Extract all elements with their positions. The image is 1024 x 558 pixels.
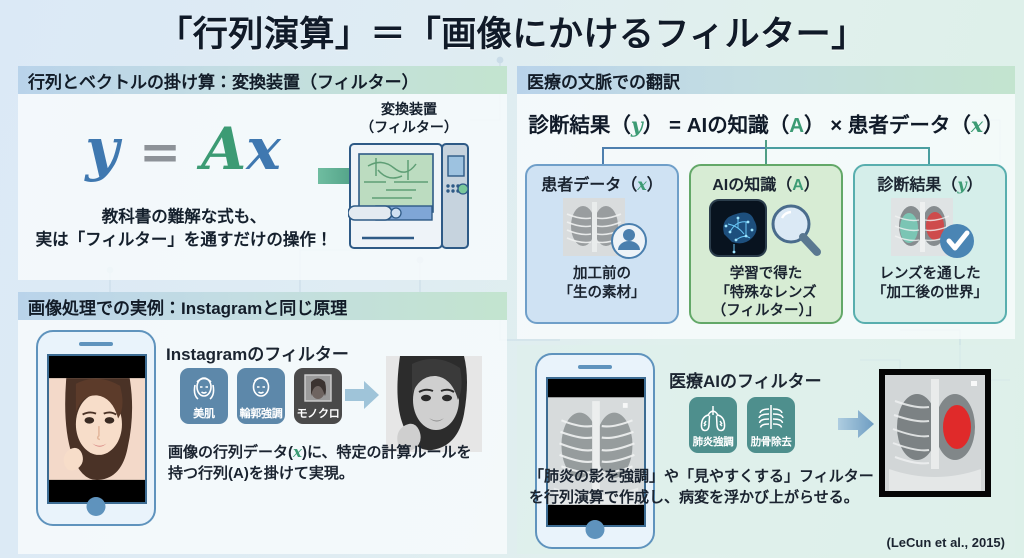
ribcage-icon [755, 402, 787, 432]
panel-instagram-header: 画像処理での実例：Instagramと同じ原理 [18, 292, 507, 320]
caption-line-1: 教科書の難解な式も、 [102, 208, 267, 226]
monochrome-portrait-image [386, 356, 482, 452]
card-caption-line-1: 学習で得た [730, 266, 803, 282]
card-caption-line-2: 「生の素材」 [559, 285, 646, 301]
panel-matrix-vector: 行列とベクトルの掛け算：変換装置（フィルター） y = Ax 教科書の難解な式も… [18, 66, 507, 280]
card-caption-line-2: 「特殊なレンズ [715, 285, 816, 301]
slide-title-bar: 「行列演算」＝「画像にかけるフィルター」 [0, 2, 1024, 60]
monochrome-photo-icon [303, 373, 333, 403]
card-caption-line-1: レンズを通した [879, 266, 980, 282]
med-eq-lhs-var: y [631, 113, 643, 137]
equation-var-y: y [85, 115, 119, 183]
card-media [875, 198, 985, 260]
med-eq-times: × [830, 114, 842, 137]
card-title-var: y [957, 175, 966, 194]
source-credit: (LeCun et al., 2015) [887, 535, 1005, 550]
right-arrow-icon [344, 380, 380, 410]
panel-instagram-body: Instagramのフィルター 美肌 [18, 320, 507, 554]
ig-caption-b: )に、特定の計算ルールを [302, 444, 472, 461]
caption-line-2: 実は「フィルター」を通すだけの操作！ [36, 231, 333, 249]
card-media [708, 198, 824, 260]
filter-button-bihada[interactable]: 美肌 [180, 368, 228, 424]
device-label-line-2: （フィルター） [360, 119, 458, 135]
med-eq-lhs: 診断結果 [528, 114, 610, 137]
filter-label: 肋骨除去 [751, 434, 792, 449]
tree-connector-lines [517, 140, 1015, 164]
med-eq-rhs: 患者データ [848, 114, 951, 137]
card-media [547, 198, 657, 260]
filter-label: モノクロ [297, 405, 340, 421]
ig-caption-var: x [293, 443, 302, 461]
smooth-skin-face-icon [189, 373, 219, 403]
panel-medical-header: 医療の文脈での翻訳 [517, 66, 1015, 94]
panel-medical-ai-filter: 医療AIのフィルター 肺炎強調 肋骨除去 [517, 345, 1015, 554]
card-diagnosis-result[interactable]: 診断結果（y） [853, 164, 1007, 324]
card-title-text: AIの知識 [712, 177, 776, 194]
ig-caption-a: 画像の行列データ( [168, 444, 293, 461]
med-eq-equals: = [669, 114, 681, 137]
medical-equation: 診断結果（y） = AIの知識（A） × 患者データ（x） [517, 108, 1015, 138]
device-label: 変換装置 （フィルター） [334, 100, 484, 136]
panel-matrix-body: y = Ax 教科書の難解な式も、 実は「フィルター」を通すだけの操作！ 変換装… [18, 94, 507, 280]
filter-label: 肺炎強調 [693, 434, 734, 449]
equation-var-x: x [246, 115, 281, 183]
panel-instagram-example: 画像処理での実例：Instagramと同じ原理 [18, 292, 507, 554]
lungs-icon [697, 402, 729, 432]
panel-medical-translation: 医療の文脈での翻訳 診断結果（y） = AIの知識（A） × 患者データ（x） … [517, 66, 1015, 339]
monochrome-portrait-result [386, 356, 482, 452]
instagram-filters-title: Instagramのフィルター [166, 340, 349, 365]
phone-home-button[interactable] [586, 520, 605, 539]
smartphone-portrait-photo [36, 330, 156, 526]
instagram-caption: 画像の行列データ(x)に、特定の計算ルールを 持つ行列(A)を掛けて実現。 [168, 442, 472, 484]
phone-home-button[interactable] [87, 497, 106, 516]
portrait-photo [49, 354, 145, 504]
card-caption: 学習で得た 「特殊なレンズ （フィルター）」 [712, 265, 820, 321]
filter-button-pneumonia[interactable]: 肺炎強調 [689, 397, 737, 453]
card-title-text: 診断結果 [877, 177, 941, 194]
chest-xray-thumbnail [547, 198, 657, 260]
equation-var-A: A [201, 115, 246, 183]
medical-card-list: 患者データ（x） [525, 164, 1007, 324]
right-arrow-icon [837, 409, 875, 439]
card-caption: レンズを通した 「加工後の世界」 [872, 265, 988, 302]
filter-label: 美肌 [193, 405, 214, 421]
card-caption-line-3: （フィルター）」 [712, 303, 820, 319]
medical-filters-title: 医療AIのフィルター [669, 367, 822, 392]
card-patient-data[interactable]: 患者データ（x） [525, 164, 679, 324]
filter-button-rib-removal[interactable]: 肋骨除去 [747, 397, 795, 453]
check-circle-icon [940, 224, 974, 258]
panel-medical-body: 診断結果（y） = AIの知識（A） × 患者データ（x） 患者データ（x） [517, 94, 1015, 339]
card-title: 診断結果（y） [877, 171, 982, 195]
card-title: 患者データ（x） [541, 171, 663, 195]
filter-label: 輪郭強調 [240, 405, 283, 421]
panel-matrix-header: 行列とベクトルの掛け算：変換装置（フィルター） [18, 66, 507, 94]
card-ai-knowledge[interactable]: AIの知識（A） [689, 164, 843, 324]
person-avatar-icon [612, 224, 646, 258]
medical-filter-buttons: 肺炎強調 肋骨除去 [689, 397, 795, 453]
matrix-equation: y = Ax [48, 120, 318, 178]
smartphone-chest-xray [535, 353, 655, 549]
page-title: 「行列演算」＝「画像にかけるフィルター」 [157, 6, 866, 57]
card-caption-line-2: 「加工後の世界」 [872, 285, 988, 301]
annotated-chest-xray-thumbnail [875, 198, 985, 260]
med-caption-line-2: を行列演算で作成し、病変を浮かび上がらせる。 [529, 489, 859, 506]
instagram-filter-buttons: 美肌 輪郭強調 モノクロ [180, 368, 342, 424]
card-title-text: 患者データ [541, 177, 621, 194]
magnifier-icon [773, 206, 817, 252]
phone-speaker [578, 365, 612, 369]
filter-button-monokuro[interactable]: モノクロ [294, 368, 342, 424]
med-caption-line-1: 「肺炎の影を強調」や「見やすくする」フィルター [529, 468, 874, 485]
device-label-line-1: 変換装置 [381, 101, 437, 117]
card-caption: 加工前の 「生の素材」 [559, 265, 646, 302]
ig-caption-line-2: 持つ行列(A)を掛けて実現。 [168, 465, 354, 482]
med-eq-rhs-var: x [971, 113, 983, 137]
scanner-machine-icon [348, 138, 470, 260]
phone-screen [47, 354, 147, 504]
card-title-var: A [792, 177, 804, 194]
card-title-var: x [637, 175, 647, 194]
ai-brain-chip-icon [708, 198, 824, 260]
phone-speaker [79, 342, 113, 346]
med-eq-mid: AIの知識 [687, 114, 769, 137]
filter-button-rinkaku[interactable]: 輪郭強調 [237, 368, 285, 424]
medical-ai-caption: 「肺炎の影を強調」や「見やすくする」フィルター を行列演算で作成し、病変を浮かび… [521, 467, 1013, 508]
matrix-equation-caption: 教科書の難解な式も、 実は「フィルター」を通すだけの操作！ [34, 206, 334, 252]
contour-face-icon [246, 373, 276, 403]
card-caption-line-1: 加工前の [573, 266, 631, 282]
med-eq-mid-var: A [789, 114, 804, 137]
equation-equals: = [139, 122, 181, 181]
card-title: AIの知識（A） [712, 171, 820, 195]
